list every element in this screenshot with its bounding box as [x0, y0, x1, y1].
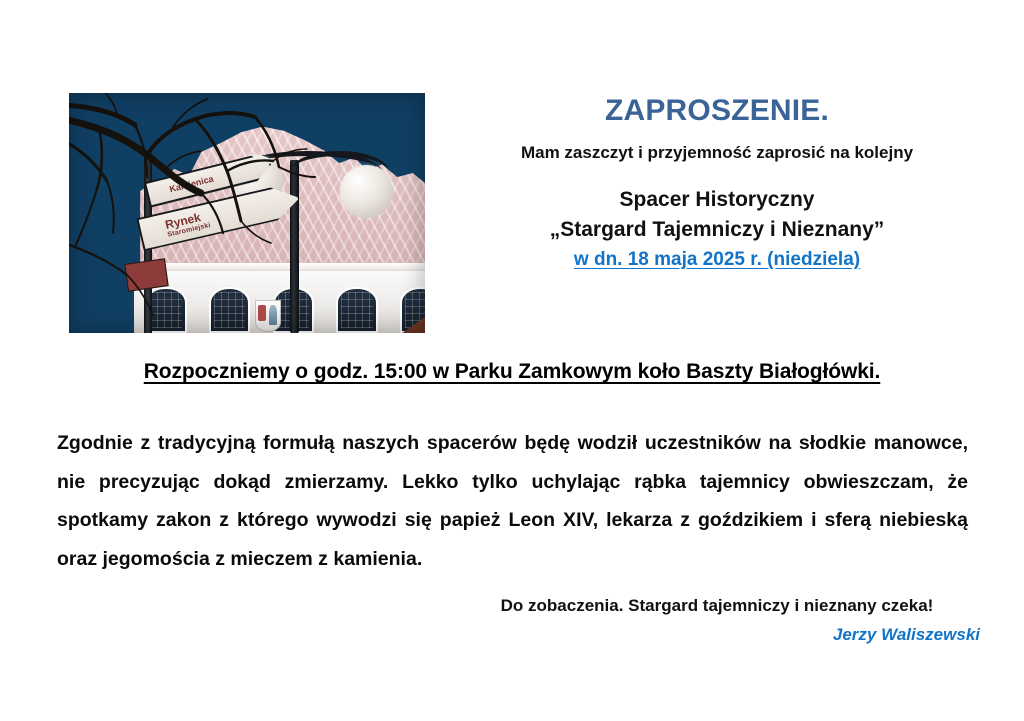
- event-name-line1: Spacer Historyczny: [452, 185, 982, 215]
- invitation-page: Kamienica Rynek Staromiejski: [0, 0, 1024, 721]
- page-title: ZAPROSZENIE.: [452, 94, 982, 127]
- meeting-details-text: Rozpoczniemy o godz. 15:00 w Parku Zamko…: [144, 360, 881, 384]
- invitation-subtitle: Mam zaszczyt i przyjemność zaprosić na k…: [452, 143, 982, 163]
- event-name-line2: „Stargard Tajemniczy i Nieznany”: [452, 215, 982, 245]
- closing-text: Do zobaczenia. Stargard tajemniczy i nie…: [452, 596, 982, 616]
- photo-frame: Kamienica Rynek Staromiejski: [69, 93, 425, 333]
- meeting-details: Rozpoczniemy o godz. 15:00 w Parku Zamko…: [0, 360, 1024, 384]
- body-paragraph: Zgodnie z tradycyjną formułą naszych spa…: [57, 424, 968, 578]
- invitation-header: ZAPROSZENIE. Mam zaszczyt i przyjemność …: [452, 94, 982, 271]
- invitation-body: Zgodnie z tradycyjną formułą naszych spa…: [57, 424, 968, 578]
- signature: Jerzy Waliszewski: [452, 625, 982, 645]
- invitation-closing: Do zobaczenia. Stargard tajemniczy i nie…: [452, 596, 982, 645]
- event-date-link[interactable]: w dn. 18 maja 2025 r. (niedziela): [574, 249, 860, 271]
- tree-branches: [69, 93, 425, 333]
- building-photo: Kamienica Rynek Staromiejski: [69, 93, 425, 333]
